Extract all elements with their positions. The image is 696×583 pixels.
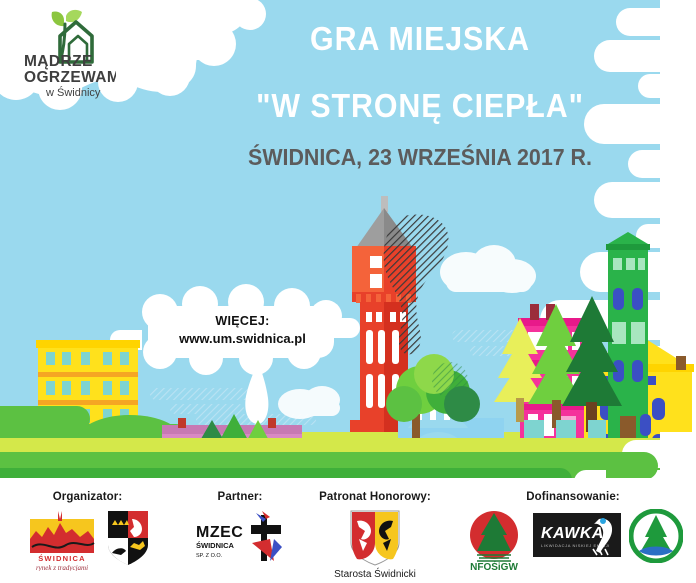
brand-logo-svg: MĄDRZE OGRZEWAMY w Świdnicy	[6, 4, 116, 100]
footer-heading-organizator: Organizator:	[0, 491, 175, 503]
mzec-logo-sub1: ŚWIDNICA	[196, 541, 234, 550]
more-label: WIĘCEJ:	[160, 314, 325, 328]
footer-logos-patronat	[300, 509, 450, 567]
footer-group-patronat: Patronat Honorowy: Starosta Świdnicki	[300, 491, 450, 580]
sponsor-footer: Organizator: ŚWIDNICA rynek z tradycjami	[0, 479, 696, 583]
nfosigw-logo-text: NFOŚiGW	[470, 560, 518, 571]
mzec-logo-text: MZEC	[196, 524, 243, 541]
footer-heading-patronat: Patronat Honorowy:	[300, 491, 450, 503]
footer-logos-organizator: ŚWIDNICA rynek z tradycjami	[0, 509, 175, 571]
mzec-logo: MZEC ŚWIDNICA SP. Z O.O.	[194, 509, 286, 571]
website-url[interactable]: www.um.swidnica.pl	[160, 331, 325, 346]
grass-band-group	[0, 432, 696, 479]
title-block: GRA MIEJSKA "W STRONĘ CIEPŁA" ŚWIDNICA, …	[200, 22, 640, 169]
wfosigw-logo	[629, 509, 683, 563]
patronat-caption: Starosta Świdnicki	[300, 569, 450, 580]
footer-heading-partner: Partner:	[175, 491, 305, 503]
brand-line1: MĄDRZE	[24, 53, 93, 70]
swidnica-logo-text: ŚWIDNICA	[38, 554, 86, 563]
mzec-logo-sub2: SP. Z O.O.	[196, 553, 223, 559]
starosta-swidnicki-crest	[349, 509, 401, 567]
title-line-1: GRA MIEJSKA	[218, 22, 623, 57]
brand-logo: MĄDRZE OGRZEWAMY w Świdnicy	[6, 4, 116, 100]
brand-line3: w Świdnicy	[45, 86, 101, 99]
more-info-block: WIĘCEJ: www.um.swidnica.pl	[160, 314, 325, 346]
kawka-logo-text: KAWKA	[541, 525, 604, 542]
kawka-logo: KAWKA LIKWIDACJA NISKIEJ EMISJI	[533, 509, 621, 561]
footer-logos-dofinansowanie: NFOŚiGW KAWKA LIKWIDACJA NISKIEJ EMISJI	[450, 509, 696, 571]
footer-group-dofinansowanie: Dofinansowanie: NFOŚiGW KAWKA LIKWIDACJA…	[450, 491, 696, 571]
swidnica-coat-of-arms	[106, 509, 150, 567]
brand-line2: OGRZEWAMY	[24, 69, 116, 86]
nfosigw-logo: NFOŚiGW	[463, 509, 525, 571]
title-line-3: ŚWIDNICA, 23 WRZEŚNIA 2017 R.	[215, 145, 624, 169]
footer-group-partner: Partner: MZEC ŚWIDNICA SP. Z O.O.	[175, 491, 305, 571]
footer-heading-dofinansowanie: Dofinansowanie:	[450, 491, 696, 503]
illustration-stage: MĄDRZE OGRZEWAMY w Świdnicy GRA MIEJSKA …	[0, 0, 696, 479]
title-line-2: "W STRONĘ CIEPŁA"	[218, 89, 623, 124]
footer-logos-partner: MZEC ŚWIDNICA SP. Z O.O.	[175, 509, 305, 571]
swidnica-logo-tagline: rynek z tradycjami	[35, 564, 87, 571]
footer-group-organizator: Organizator: ŚWIDNICA rynek z tradycjami	[0, 491, 175, 571]
swidnica-city-logo: ŚWIDNICA rynek z tradycjami	[26, 509, 98, 571]
poster-root: MĄDRZE OGRZEWAMY w Świdnicy GRA MIEJSKA …	[0, 0, 696, 583]
